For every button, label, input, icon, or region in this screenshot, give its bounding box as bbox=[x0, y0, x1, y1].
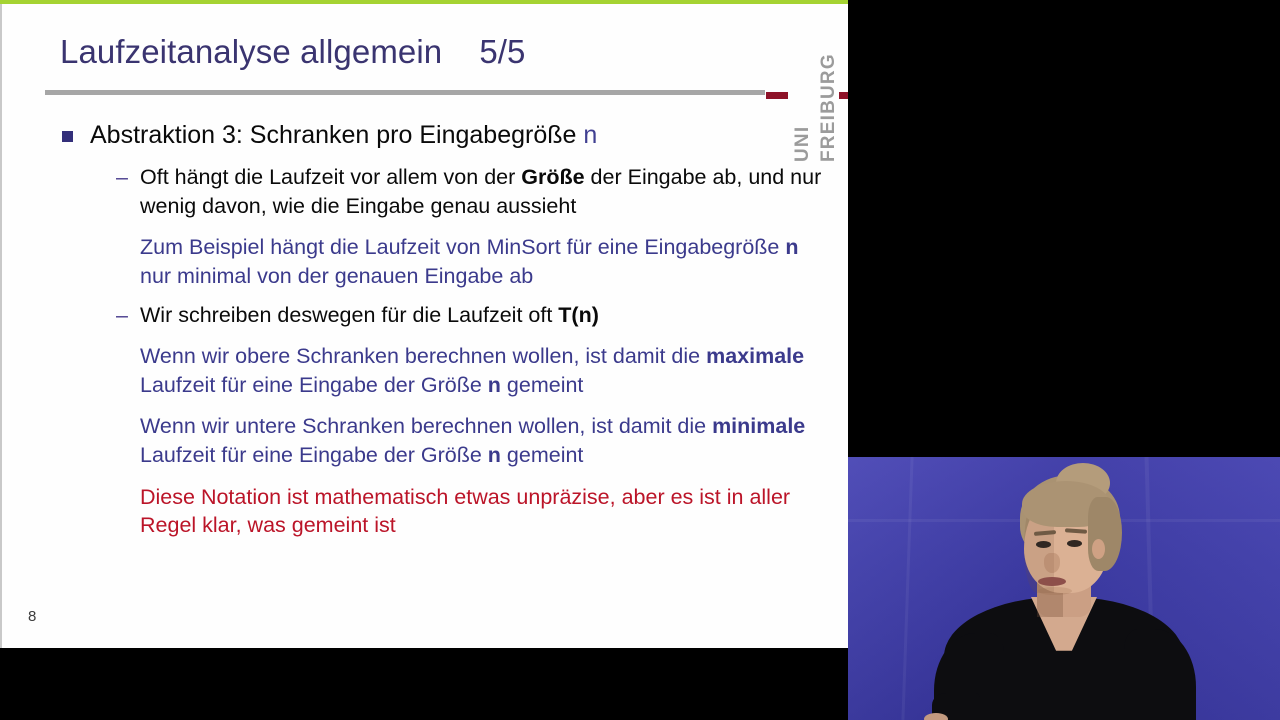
presenter-mouth bbox=[1038, 577, 1066, 586]
note3-part2: Laufzeit für eine Eingabe der Größe bbox=[140, 443, 488, 467]
bullet-level2-item2: – Wir schreiben deswegen für die Laufzei… bbox=[0, 301, 848, 330]
note3-part3: gemeint bbox=[501, 443, 583, 467]
item2-part1: Wir schreiben deswegen für die Laufzeit … bbox=[140, 303, 558, 327]
note1-bold-n: n bbox=[785, 235, 798, 259]
heading-text: Abstraktion 3: Schranken pro Eingabegröß… bbox=[90, 121, 583, 149]
square-bullet-icon bbox=[62, 131, 73, 142]
presentation-slide: Laufzeitanalyse allgemein 5/5 UNI FREIBU… bbox=[0, 0, 848, 648]
dash-bullet-icon: – bbox=[116, 301, 128, 330]
presenter-hand bbox=[924, 713, 948, 720]
item1-part1: Oft hängt die Laufzeit vor allem von der bbox=[140, 165, 521, 189]
bullet-level2-item1: – Oft hängt die Laufzeit vor allem von d… bbox=[0, 163, 848, 220]
heading-accent-n: n bbox=[583, 121, 597, 149]
presenter-webcam-overlay bbox=[848, 457, 1280, 720]
logo-dash-left-icon bbox=[766, 92, 788, 99]
note-lower-bound: Wenn wir untere Schranken berechnen woll… bbox=[0, 412, 848, 469]
screen-recording-frame: Laufzeitanalyse allgemein 5/5 UNI FREIBU… bbox=[0, 0, 1280, 720]
note-upper-bound: Wenn wir obere Schranken berechnen wolle… bbox=[0, 342, 848, 399]
slide-top-accent-bar bbox=[0, 0, 848, 4]
note-minsort-example: Zum Beispiel hängt die Laufzeit von MinS… bbox=[0, 233, 848, 290]
presenter-shoulder-right bbox=[1124, 629, 1196, 720]
note2-bold-maximale: maximale bbox=[706, 344, 804, 368]
presenter-eye-right bbox=[1067, 540, 1082, 547]
title-divider-rule bbox=[45, 90, 765, 95]
dash-bullet-icon: – bbox=[116, 163, 128, 192]
presenter-eye-left bbox=[1036, 541, 1051, 548]
note3-part1: Wenn wir untere Schranken berechnen woll… bbox=[140, 414, 712, 438]
presenter-ear bbox=[1092, 539, 1105, 559]
presenter-hair-side bbox=[1088, 497, 1122, 571]
note2-bold-n: n bbox=[488, 373, 501, 397]
item1-bold-groesse: Größe bbox=[521, 165, 584, 189]
note2-part2: Laufzeit für eine Eingabe der Größe bbox=[140, 373, 488, 397]
slide-body: Abstraktion 3: Schranken pro Eingabegröß… bbox=[0, 120, 848, 540]
note1-part1: Zum Beispiel hängt die Laufzeit von MinS… bbox=[140, 235, 785, 259]
note1-part2: nur minimal von der genauen Eingabe ab bbox=[140, 264, 533, 288]
note3-bold-n: n bbox=[488, 443, 501, 467]
bullet-level1-heading: Abstraktion 3: Schranken pro Eingabegröß… bbox=[0, 120, 848, 151]
note2-part3: gemeint bbox=[501, 373, 583, 397]
presenter-figure bbox=[848, 457, 1280, 720]
slide-title: Laufzeitanalyse allgemein 5/5 bbox=[60, 33, 526, 71]
note2-part1: Wenn wir obere Schranken berechnen wolle… bbox=[140, 344, 706, 368]
logo-dash-right-icon bbox=[839, 92, 848, 99]
presenter-chin-shadow bbox=[1038, 587, 1072, 595]
note-imprecision-warning: Diese Notation ist mathematisch etwas un… bbox=[0, 483, 848, 540]
slide-page-number: 8 bbox=[28, 608, 36, 625]
item2-bold-tn: T(n) bbox=[558, 303, 599, 327]
note3-bold-minimale: minimale bbox=[712, 414, 805, 438]
presenter-nose bbox=[1044, 553, 1060, 573]
